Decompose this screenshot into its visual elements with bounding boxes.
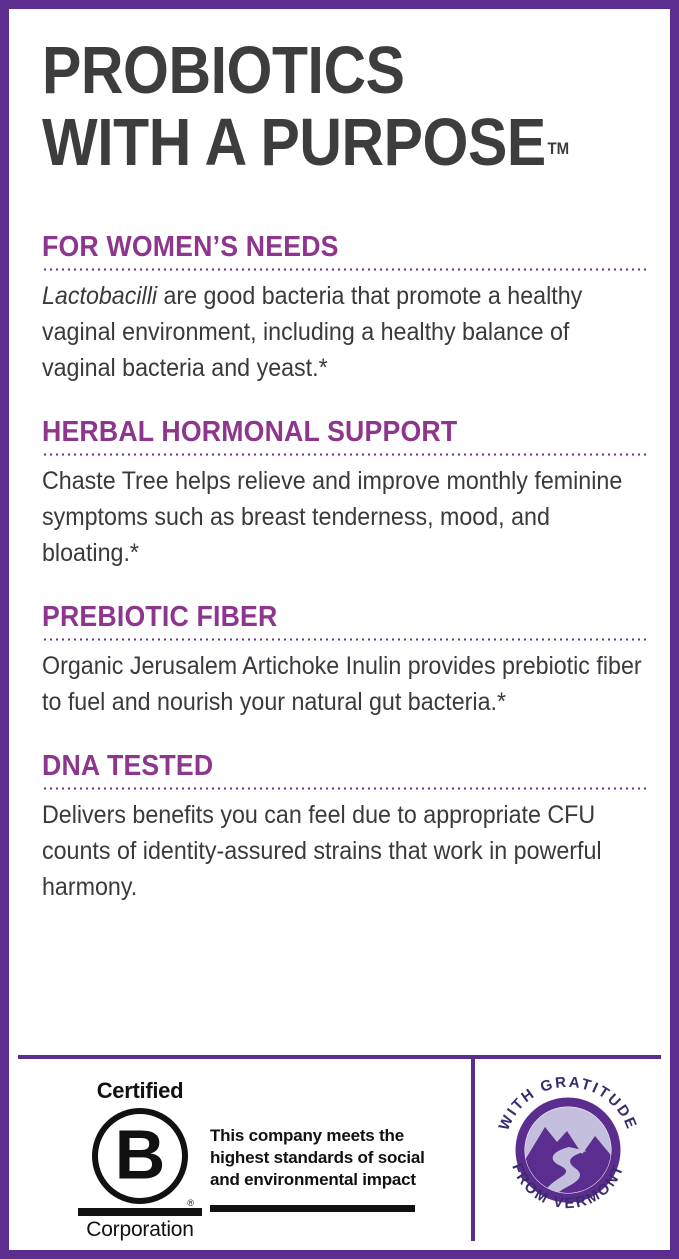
bcorp-corporation-label: Corporation bbox=[78, 1218, 202, 1242]
bcorp-letter-b: B bbox=[98, 1120, 182, 1190]
section-heading-herbal-hormonal-support: HERBAL HORMONAL SUPPORT bbox=[42, 416, 599, 448]
page-title: PROBIOTICS WITH A PURPOSETM bbox=[42, 35, 642, 179]
section-body-herbal-hormonal-support: Chaste Tree helps relieve and improve mo… bbox=[42, 463, 647, 571]
section-divider-dotted bbox=[42, 787, 647, 790]
bcorp-logo: Certified B ® Corporation bbox=[78, 1079, 202, 1242]
bcorp-ring-icon: B bbox=[92, 1108, 188, 1204]
bcorp-statement-line: This company meets the bbox=[210, 1125, 425, 1147]
bcorp-panel: Certified B ® Corporation This company m… bbox=[18, 1059, 471, 1241]
section-divider-dotted bbox=[42, 268, 647, 271]
benefit-sections: FOR WOMEN’S NEEDS Lactobacilli are good … bbox=[42, 231, 647, 905]
bcorp-statement-line: and environmental impact bbox=[210, 1169, 425, 1191]
section-heading-womens-needs: FOR WOMEN’S NEEDS bbox=[42, 231, 599, 263]
bcorp-statement-line: highest standards of social bbox=[210, 1147, 425, 1169]
certification-panel: Certified B ® Corporation This company m… bbox=[18, 1059, 661, 1241]
benefit-section: FOR WOMEN’S NEEDS Lactobacilli are good … bbox=[42, 231, 647, 386]
benefit-section: DNA TESTED Delivers benefits you can fee… bbox=[42, 750, 647, 905]
title-line-2-text: WITH A PURPOSE bbox=[42, 105, 546, 180]
benefit-section: HERBAL HORMONAL SUPPORT Chaste Tree help… bbox=[42, 416, 647, 571]
trademark-symbol: TM bbox=[548, 139, 570, 158]
product-label-panel: PROBIOTICS WITH A PURPOSETM FOR WOMEN’S … bbox=[0, 0, 679, 1259]
vermont-seal-panel: WITH GRATITUDE FROM VERMONT bbox=[475, 1059, 661, 1241]
title-line-2: WITH A PURPOSETM bbox=[42, 107, 570, 179]
registered-trademark-icon: ® bbox=[187, 1198, 194, 1208]
section-body-dna-tested: Delivers benefits you can feel due to ap… bbox=[42, 797, 647, 905]
section-body-prebiotic-fiber: Organic Jerusalem Artichoke Inulin provi… bbox=[42, 648, 647, 720]
bcorp-statement-rule bbox=[210, 1205, 415, 1212]
bcorp-circle-mark: B ® bbox=[92, 1108, 188, 1204]
vermont-gratitude-seal-icon: WITH GRATITUDE FROM VERMONT bbox=[483, 1065, 653, 1235]
section-heading-prebiotic-fiber: PREBIOTIC FIBER bbox=[42, 601, 599, 633]
section-body-womens-needs: Lactobacilli are good bacteria that prom… bbox=[42, 278, 647, 386]
section-heading-dna-tested: DNA TESTED bbox=[42, 750, 599, 782]
section-divider-dotted bbox=[42, 453, 647, 456]
benefit-section: PREBIOTIC FIBER Organic Jerusalem Artich… bbox=[42, 601, 647, 720]
section-body-italic-term: Lactobacilli bbox=[42, 282, 157, 310]
bcorp-certified-label: Certified bbox=[78, 1079, 202, 1103]
bcorp-statement: This company meets the highest standards… bbox=[210, 1125, 425, 1212]
section-divider-dotted bbox=[42, 638, 647, 641]
bcorp-rule bbox=[78, 1208, 202, 1216]
title-line-1: PROBIOTICS bbox=[42, 35, 570, 107]
